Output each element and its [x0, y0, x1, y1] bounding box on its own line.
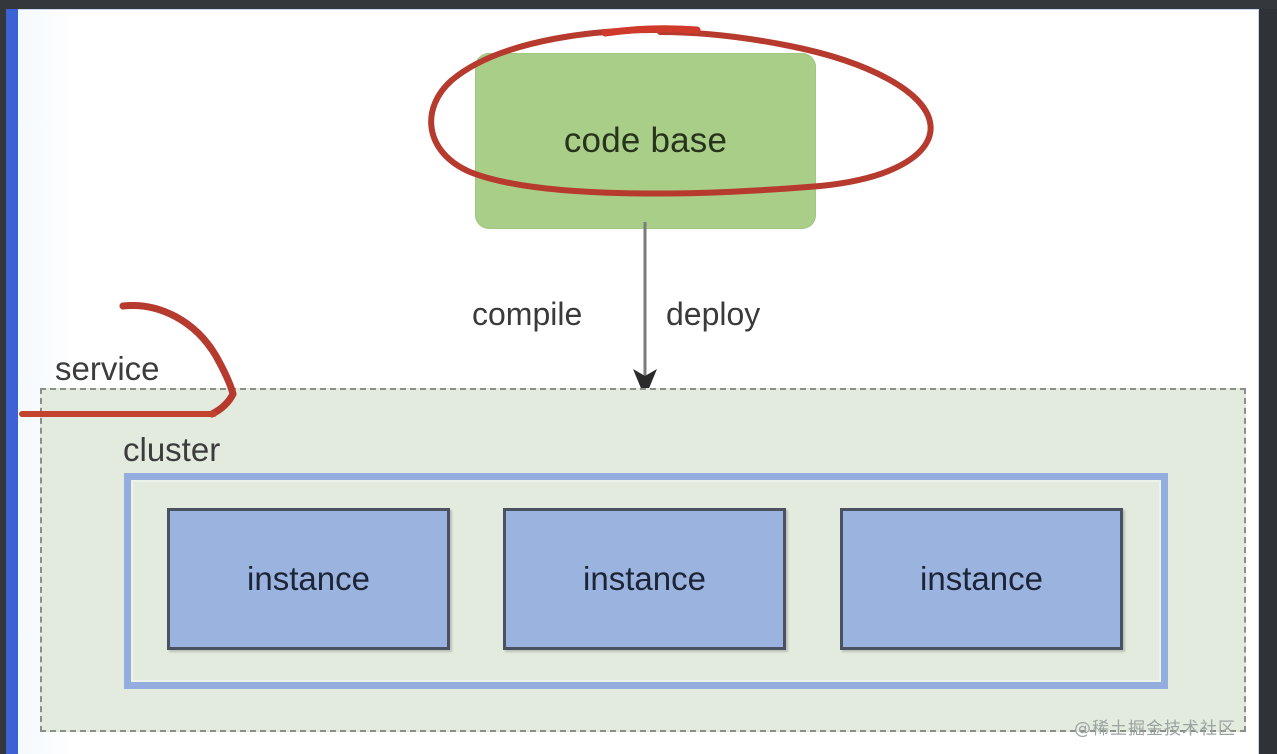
node-instance-label: instance [247, 560, 370, 598]
node-instance[interactable]: instance [503, 508, 786, 650]
node-instance-label: instance [583, 560, 706, 598]
diagram-canvas: code base compile deploy service cluster… [18, 9, 1259, 754]
screenshot-root: code base compile deploy service cluster… [0, 0, 1277, 754]
watermark: @稀土掘金技术社区 [1074, 714, 1236, 739]
node-instance[interactable]: instance [167, 508, 450, 650]
window-chrome-top [0, 0, 1277, 9]
instances-row: instance instance instance [18, 10, 1258, 754]
blue-accent-bar [6, 9, 18, 754]
node-instance[interactable]: instance [840, 508, 1123, 650]
node-instance-label: instance [920, 560, 1043, 598]
